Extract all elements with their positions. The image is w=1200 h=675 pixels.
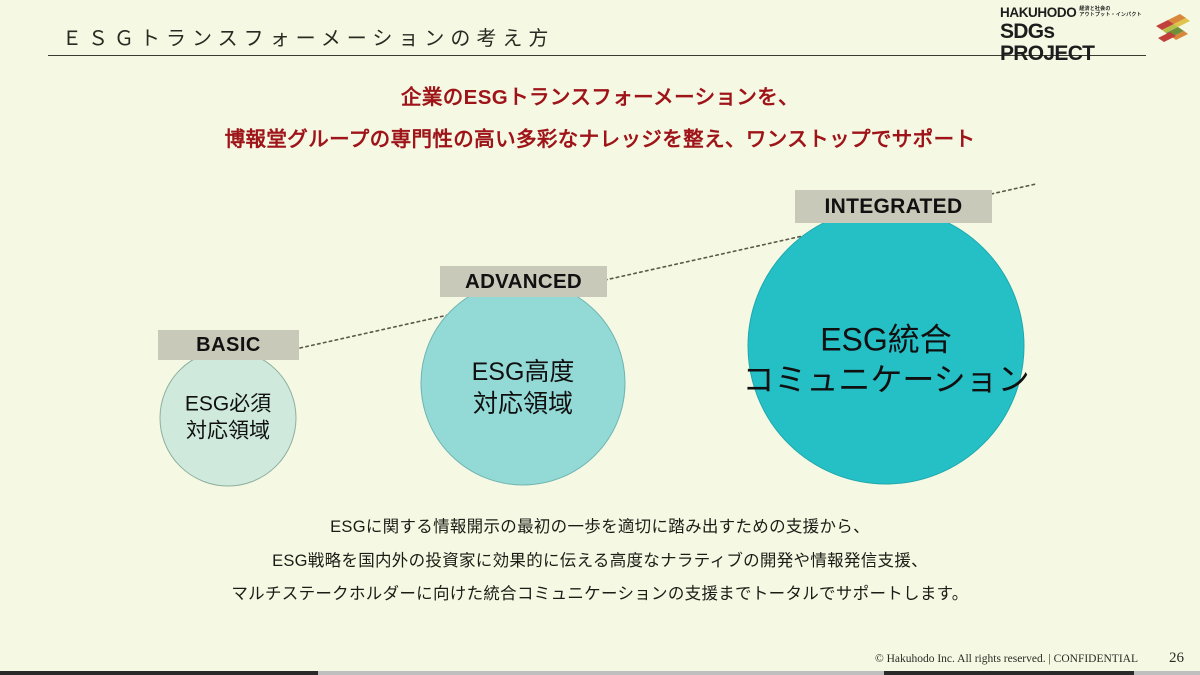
- circle-text-basic-line1: ESG必須: [185, 391, 271, 418]
- hakuhodo-arrow-mark-icon: [1154, 12, 1192, 46]
- circle-integrated: [748, 208, 1024, 484]
- stage-label-integrated: INTEGRATED: [795, 190, 992, 223]
- headline: 企業のESGトランスフォーメーションを、 博報堂グループの専門性の高い多彩なナレ…: [0, 88, 1200, 150]
- stage-label-basic: BASIC: [158, 330, 299, 360]
- logo-brand-text: HAKUHODO: [1000, 6, 1076, 20]
- circle-basic: [160, 350, 296, 486]
- page-title: ＥＳＧトランスフォーメーションの考え方: [62, 22, 554, 51]
- logo-tagline-line2: アウトプット・インパクト: [1079, 12, 1141, 18]
- page-number: 26: [1169, 650, 1184, 667]
- circle-text-basic-line2: 対応領域: [185, 418, 271, 445]
- video-progress-fill-right: [884, 671, 1134, 675]
- logo-tagline: 経済と社会の アウトプット・インパクト: [1079, 6, 1141, 19]
- stage-label-advanced: ADVANCED: [440, 266, 607, 297]
- slide-header: ＥＳＧトランスフォーメーションの考え方 HAKUHODO 経済と社会の アウトプ…: [0, 0, 1200, 62]
- circle-text-advanced: ESG高度 対応領域: [472, 356, 575, 420]
- hakuhodo-sdgs-project-logo: HAKUHODO 経済と社会の アウトプット・インパクト SDGs PROJEC…: [1000, 6, 1192, 50]
- circle-text-integrated: ESG統合 コミュニケーション: [742, 320, 1029, 401]
- video-progress-bar[interactable]: [0, 671, 1200, 675]
- headline-line-1: 企業のESGトランスフォーメーションを、: [0, 88, 1200, 109]
- circle-advanced: [421, 281, 625, 485]
- body-copy-line-2: ESG戦略を国内外の投資家に効果的に伝える高度なナラティブの開発や情報発信支援、: [0, 553, 1200, 570]
- slide-canvas: ＥＳＧトランスフォーメーションの考え方 HAKUHODO 経済と社会の アウトプ…: [0, 0, 1200, 675]
- footer-copyright: © Hakuhodo Inc. All rights reserved. | C…: [875, 653, 1138, 665]
- dotted-trend-line: [300, 184, 1036, 348]
- headline-line-2: 博報堂グループの専門性の高い多彩なナレッジを整え、ワンストップでサポート: [0, 130, 1200, 151]
- logo-program-text: SDGs PROJECT: [1000, 21, 1150, 65]
- title-underline-rule: [48, 55, 1146, 56]
- circle-text-advanced-line2: 対応領域: [472, 388, 575, 420]
- circle-text-integrated-line2: コミュニケーション: [742, 360, 1029, 400]
- body-copy-line-1: ESGに関する情報開示の最初の一歩を適切に踏み出すための支援から、: [0, 519, 1200, 536]
- body-copy: ESGに関する情報開示の最初の一歩を適切に踏み出すための支援から、 ESG戦略を…: [0, 519, 1200, 603]
- circle-text-integrated-line1: ESG統合: [742, 320, 1029, 360]
- circle-text-basic: ESG必須 対応領域: [185, 391, 271, 446]
- logo-text-block: HAKUHODO 経済と社会の アウトプット・インパクト SDGs PROJEC…: [1000, 6, 1150, 65]
- circle-text-advanced-line1: ESG高度: [472, 356, 575, 388]
- body-copy-line-3: マルチステークホルダーに向けた統合コミュニケーションの支援までトータルでサポート…: [0, 586, 1200, 603]
- video-progress-fill-left: [0, 671, 318, 675]
- logo-top-row: HAKUHODO 経済と社会の アウトプット・インパクト: [1000, 6, 1150, 20]
